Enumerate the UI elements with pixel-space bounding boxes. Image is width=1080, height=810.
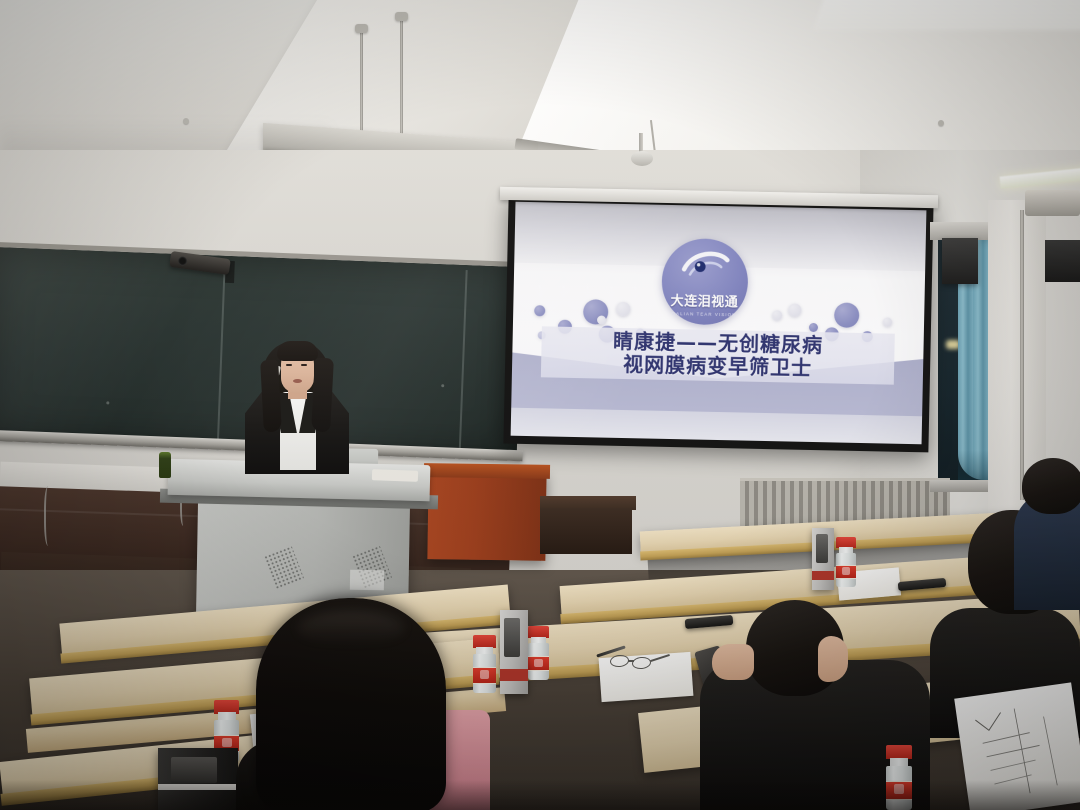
judge-head	[1022, 458, 1080, 514]
projection-screen: 大连泪视通 DALIAN TEAR VISION 睛康捷——无创糖尿病 视网膜病…	[511, 202, 927, 445]
slide-bubble	[834, 302, 860, 328]
eye-swoosh-icon	[680, 247, 731, 282]
presenter-mouth	[293, 379, 302, 383]
dark-beverage-bottle	[159, 452, 171, 478]
light-suspension-rod	[400, 16, 403, 134]
box-window	[816, 534, 828, 563]
light-suspension-rod	[360, 28, 363, 138]
presenter-hair-side	[311, 358, 334, 433]
wooden-lectern-top	[424, 463, 550, 479]
company-logo: 大连泪视通 DALIAN TEAR VISION	[661, 238, 749, 326]
box-window	[504, 618, 520, 657]
podium-paper	[372, 469, 418, 482]
slide-bubble	[534, 305, 545, 316]
product-box-dark	[158, 748, 238, 810]
projection-screen-frame: 大连泪视通 DALIAN TEAR VISION 睛康捷——无创糖尿病 视网膜病…	[503, 196, 933, 453]
wooden-lectern	[427, 469, 546, 561]
judge-face	[818, 636, 848, 682]
rod-cap-icon	[355, 24, 368, 33]
classroom-presentation-photo: 院“一系一赛”之“生命科学竞赛	[0, 0, 1080, 810]
judge-hand	[712, 644, 754, 680]
water-bottle	[836, 537, 856, 587]
wall-speaker-icon	[942, 238, 978, 284]
bottle-label	[836, 565, 856, 579]
projector-icon	[1025, 190, 1080, 216]
ceiling-stud-icon	[938, 120, 944, 126]
logo-chinese-text: 大连泪视通	[671, 295, 739, 309]
dark-wood-block	[540, 508, 632, 554]
slide-bubble	[883, 317, 892, 326]
slide-title: 睛康捷——无创糖尿病 视网膜病变早筛卫士	[541, 326, 895, 385]
product-box-gray	[500, 610, 528, 694]
logo-english-text: DALIAN TEAR VISION	[672, 311, 737, 317]
box-stripe	[812, 571, 834, 580]
bottle-label	[886, 781, 912, 799]
podium-plate	[350, 570, 384, 591]
presenter-hair-fringe	[277, 341, 318, 361]
box-band	[158, 784, 238, 790]
wall-speaker-icon	[1045, 240, 1080, 282]
score-sheet-paper	[954, 682, 1080, 810]
ceiling-light-band	[814, 0, 1080, 30]
bottle-label	[528, 656, 549, 671]
water-bottle	[886, 745, 912, 810]
water-bottle	[473, 635, 496, 693]
ceiling-fan-icon	[631, 151, 653, 166]
box-window	[171, 757, 217, 783]
camera-lens-icon	[178, 256, 188, 266]
handwriting-marks	[954, 682, 1080, 810]
wall-pipe	[1020, 210, 1024, 500]
water-bottle	[528, 626, 549, 680]
bottle-label	[473, 667, 496, 683]
ceiling-stud-icon	[183, 118, 189, 124]
fan-stem	[639, 133, 643, 153]
presenter-hair-side	[260, 360, 282, 433]
speaker-grille-icon	[263, 545, 304, 589]
rod-cap-icon	[395, 12, 408, 21]
box-stripe	[500, 669, 528, 681]
eyeglass-bridge	[628, 660, 634, 662]
student-hair	[256, 598, 446, 810]
product-box-gray	[812, 528, 834, 590]
slide-bubble	[772, 310, 782, 320]
banner-region: 院“一系一赛”之“生命科学竞赛	[0, 148, 540, 283]
slide-bubble	[809, 323, 818, 332]
wall-cable	[44, 486, 54, 546]
